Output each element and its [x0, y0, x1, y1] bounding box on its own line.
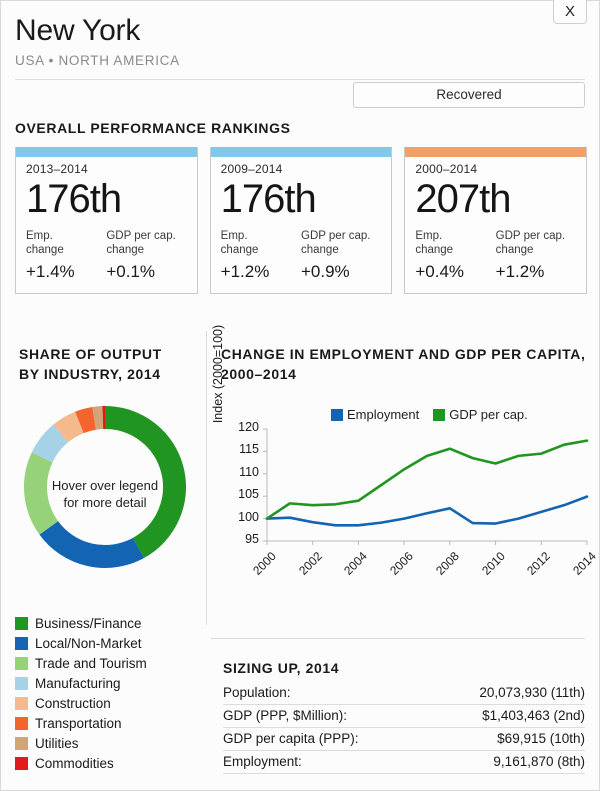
gdp-change-value: +0.9%: [301, 261, 381, 283]
ranking-card-period: 2013–2014: [26, 162, 187, 176]
legend-swatch-icon: [15, 657, 28, 670]
employment-change-value: +1.2%: [221, 261, 301, 283]
employment-change-metric: Emp.change+1.2%: [221, 229, 301, 283]
sizing-row-value: $1,403,463 (2nd): [426, 705, 585, 728]
donut-hint-line1: Hover over legend: [52, 478, 158, 493]
page-subtitle: USA • NORTH AMERICA: [15, 52, 585, 69]
panel-header: New York USA • NORTH AMERICA: [15, 13, 585, 69]
status-badge[interactable]: Recovered: [353, 82, 585, 108]
legend-swatch-icon: [15, 677, 28, 690]
gdp-change-value: +0.1%: [106, 261, 186, 283]
legend-item[interactable]: Trade and Tourism: [15, 653, 205, 673]
donut-center-hint: Hover over legend for more detail: [35, 477, 175, 511]
legend-item[interactable]: Commodities: [15, 753, 205, 773]
sizing-row-value: 9,161,870 (8th): [426, 751, 585, 774]
ranking-card-color-bar: [211, 147, 392, 157]
sizing-row-label: Population:: [223, 682, 426, 705]
sizing-up-table: Population:20,073,930 (11th)GDP (PPP, $M…: [223, 682, 585, 774]
donut-segment[interactable]: [49, 528, 139, 557]
legend-item[interactable]: Utilities: [15, 733, 205, 753]
header-divider: [15, 79, 585, 80]
gdp-change-value: +1.2%: [496, 261, 576, 283]
page-title: New York: [15, 13, 585, 49]
share-of-output-donut-chart[interactable]: Hover over legend for more detail: [17, 399, 193, 599]
legend-item-label: Manufacturing: [35, 675, 121, 692]
gdp-change-label: GDP per cap.change: [496, 229, 576, 257]
legend-swatch-icon: [15, 637, 28, 650]
table-row: Employment:9,161,870 (8th): [223, 751, 585, 774]
sizing-row-value: 20,073,930 (11th): [426, 682, 585, 705]
donut-legend[interactable]: Business/FinanceLocal/Non-MarketTrade an…: [15, 613, 205, 773]
legend-item-label: Utilities: [35, 735, 79, 752]
rankings-section-title: OVERALL PERFORMANCE RANKINGS: [15, 120, 291, 136]
donut-hint-line2: for more detail: [63, 495, 146, 510]
horizontal-divider: [211, 638, 585, 639]
ranking-card: 2000–2014207thEmp.change+0.4%GDP per cap…: [404, 147, 587, 294]
employment-gdp-line-chart: EmploymentGDP per cap. Index (2000=100) …: [213, 401, 591, 596]
gdp-change-label: GDP per cap.change: [301, 229, 381, 257]
gdp-change-metric: GDP per cap.change+0.9%: [301, 229, 381, 283]
legend-item[interactable]: Business/Finance: [15, 613, 205, 633]
table-row: GDP per capita (PPP):$69,915 (10th): [223, 728, 585, 751]
sizing-row-value: $69,915 (10th): [426, 728, 585, 751]
ranking-card: 2013–2014176thEmp.change+1.4%GDP per cap…: [15, 147, 198, 294]
legend-item[interactable]: Transportation: [15, 713, 205, 733]
legend-item-label: Construction: [35, 695, 111, 712]
legend-item-label: Transportation: [35, 715, 122, 732]
ranking-card: 2009–2014176thEmp.change+1.2%GDP per cap…: [210, 147, 393, 294]
donut-segment[interactable]: [79, 418, 94, 422]
city-profile-panel: X New York USA • NORTH AMERICA Recovered…: [0, 0, 600, 791]
employment-change-metric: Emp.change+0.4%: [415, 229, 495, 283]
legend-item-label: Commodities: [35, 755, 114, 772]
donut-segment[interactable]: [61, 422, 80, 433]
legend-item[interactable]: Construction: [15, 693, 205, 713]
donut-title-line2: BY INDUSTRY, 2014: [19, 366, 161, 382]
legend-swatch-icon: [15, 617, 28, 630]
legend-item-label: Trade and Tourism: [35, 655, 147, 672]
ranking-card-period: 2000–2014: [415, 162, 576, 176]
gdp-change-label: GDP per cap.change: [106, 229, 186, 257]
sizing-up-title: SIZING UP, 2014: [223, 660, 339, 676]
donut-title-line1: SHARE OF OUTPUT: [19, 346, 162, 362]
employment-change-label: Emp.change: [221, 229, 301, 257]
donut-section-title: SHARE OF OUTPUT BY INDUSTRY, 2014: [19, 344, 199, 384]
legend-swatch-icon: [15, 737, 28, 750]
employment-change-label: Emp.change: [26, 229, 106, 257]
ranking-card-rank: 207th: [415, 175, 576, 223]
legend-item[interactable]: Manufacturing: [15, 673, 205, 693]
ranking-card-rank: 176th: [26, 175, 187, 223]
donut-segment[interactable]: [42, 433, 61, 457]
line-chart-title: CHANGE IN EMPLOYMENT AND GDP PER CAPITA,…: [221, 344, 586, 384]
legend-item[interactable]: Local/Non-Market: [15, 633, 205, 653]
rankings-card-row: 2013–2014176thEmp.change+1.4%GDP per cap…: [15, 147, 587, 294]
gdp-change-metric: GDP per cap.change+1.2%: [496, 229, 576, 283]
sizing-row-label: GDP per capita (PPP):: [223, 728, 426, 751]
table-row: Population:20,073,930 (11th): [223, 682, 585, 705]
data-series-line: [267, 497, 587, 526]
sizing-row-label: Employment:: [223, 751, 426, 774]
gdp-change-metric: GDP per cap.change+0.1%: [106, 229, 186, 283]
legend-swatch-icon: [15, 717, 28, 730]
ranking-card-rank: 176th: [221, 175, 382, 223]
line-chart-svg: [213, 401, 591, 596]
legend-item-label: Local/Non-Market: [35, 635, 142, 652]
legend-item-label: Business/Finance: [35, 615, 142, 632]
ranking-card-period: 2009–2014: [221, 162, 382, 176]
table-row: GDP (PPP, $Million):$1,403,463 (2nd): [223, 705, 585, 728]
employment-change-value: +1.4%: [26, 261, 106, 283]
line-title-text: CHANGE IN EMPLOYMENT AND GDP PER CAPITA,…: [221, 346, 585, 382]
vertical-divider: [206, 331, 207, 625]
data-series-line: [267, 441, 587, 519]
ranking-card-color-bar: [405, 147, 586, 157]
sizing-row-label: GDP (PPP, $Million):: [223, 705, 426, 728]
employment-change-label: Emp.change: [415, 229, 495, 257]
legend-swatch-icon: [15, 697, 28, 710]
employment-change-metric: Emp.change+1.4%: [26, 229, 106, 283]
donut-segment[interactable]: [94, 418, 103, 419]
ranking-card-color-bar: [16, 147, 197, 157]
employment-change-value: +0.4%: [415, 261, 495, 283]
legend-swatch-icon: [15, 757, 28, 770]
